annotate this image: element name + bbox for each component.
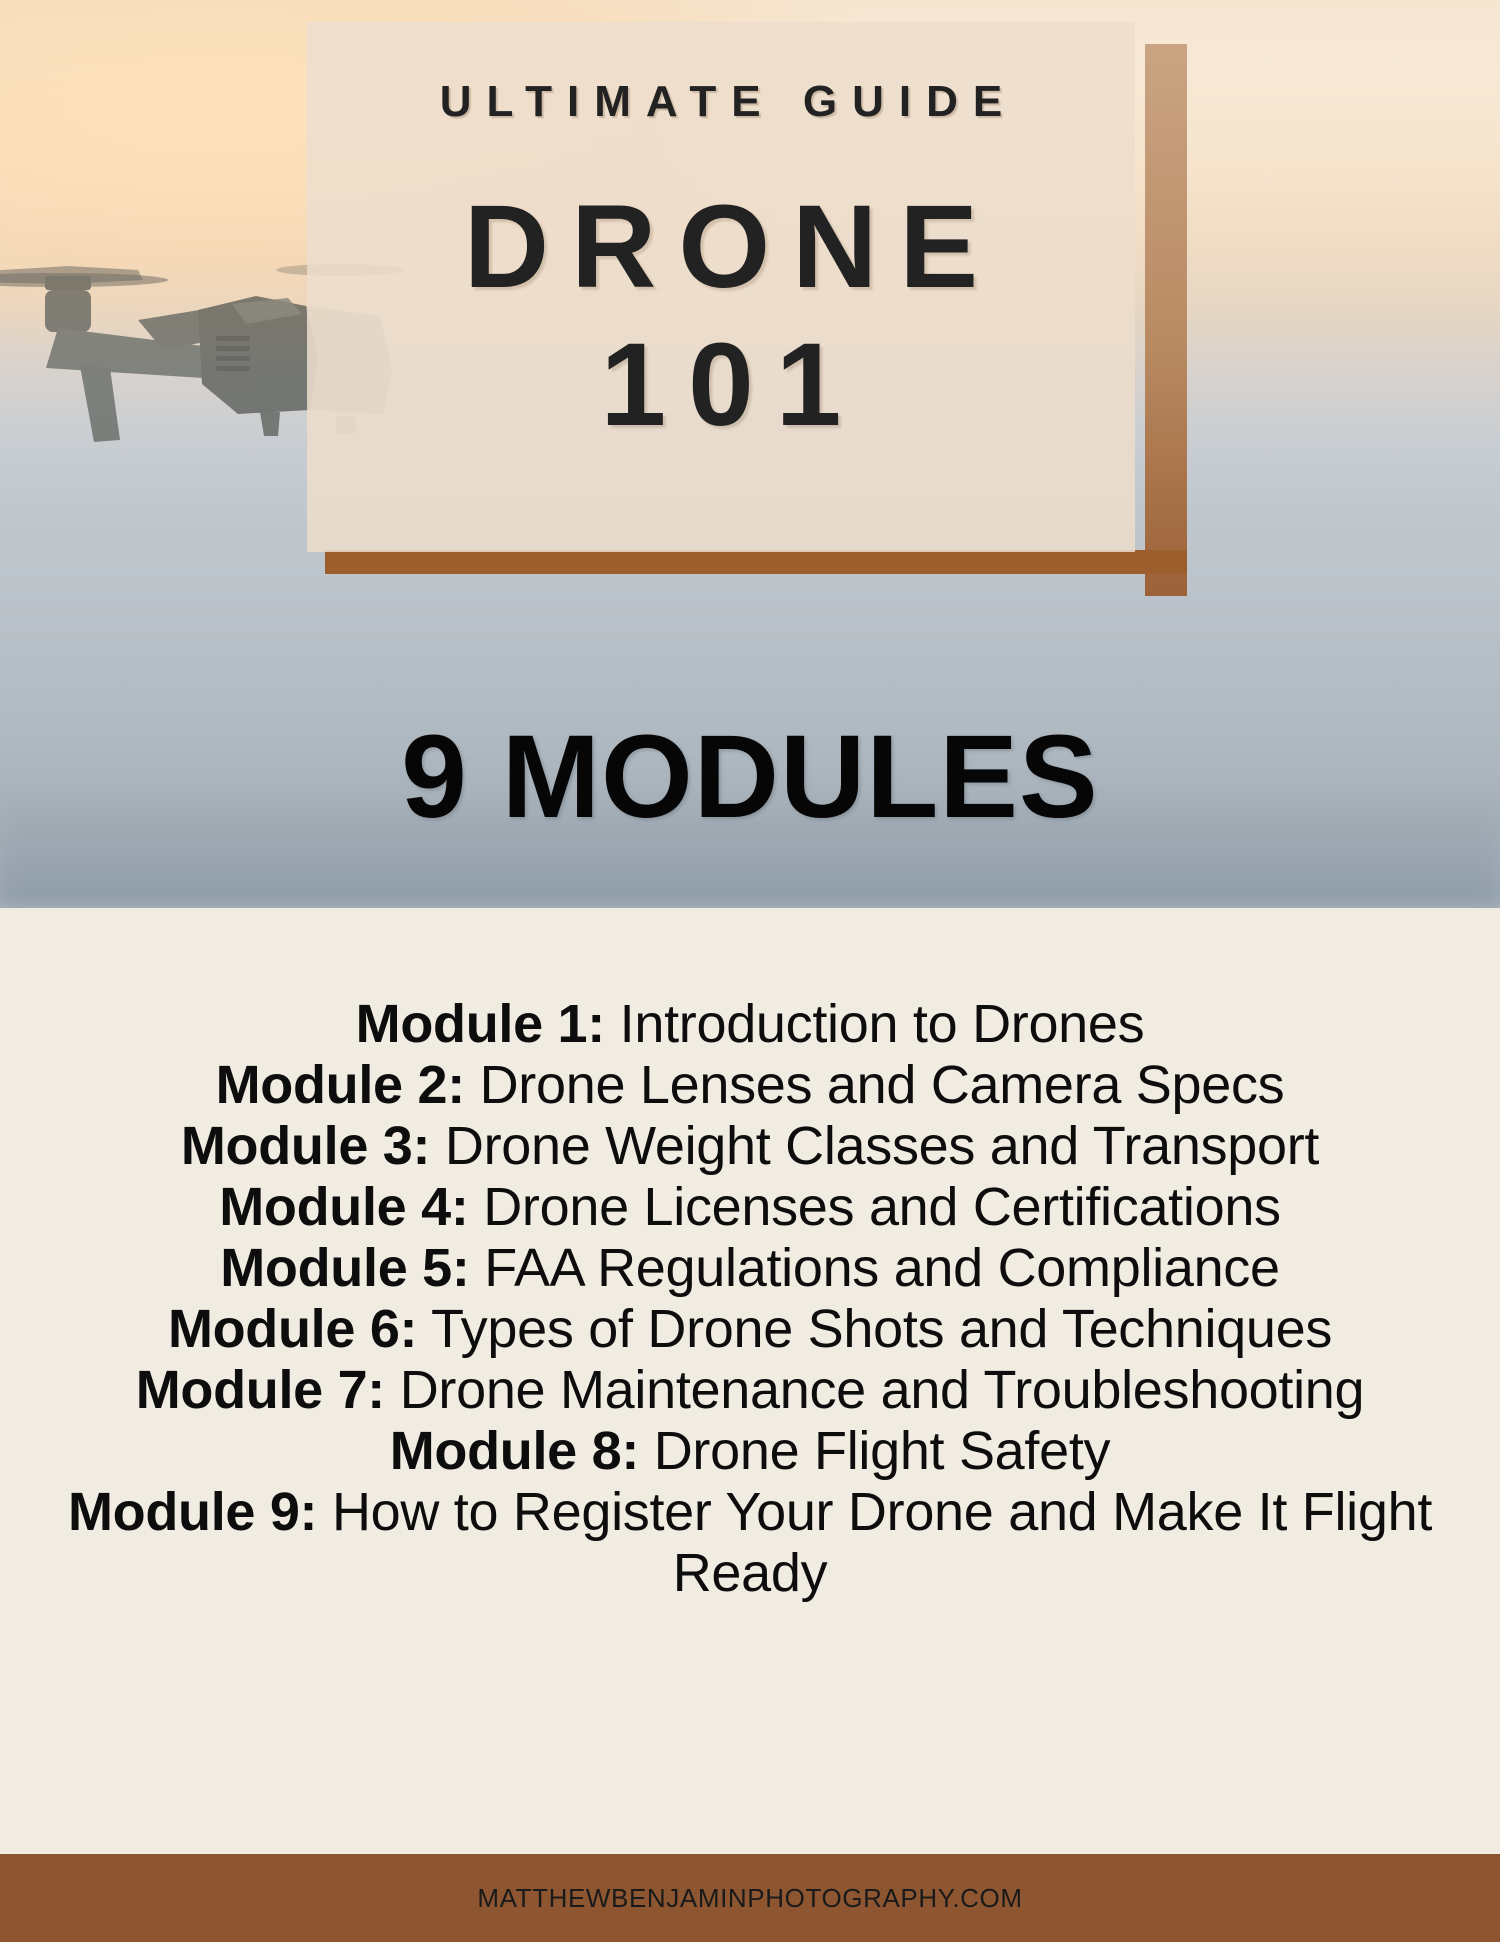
module-title: How to Register Your Drone and Make It F… [332, 1482, 1432, 1603]
module-number: Module 5: [220, 1238, 469, 1298]
hero-headline: 9 MODULES [0, 718, 1500, 836]
module-title: Drone Lenses and Camera Specs [480, 1055, 1285, 1115]
module-list-item: Module 8: Drone Flight Safety [0, 1421, 1500, 1482]
module-number: Module 1: [356, 994, 605, 1054]
title-line-1: DRONE [442, 186, 1000, 310]
module-number: Module 4: [219, 1177, 468, 1237]
module-list-item: Module 6: Types of Drone Shots and Techn… [0, 1299, 1500, 1360]
module-list: Module 1: Introduction to DronesModule 2… [0, 908, 1500, 1854]
module-title: Drone Licenses and Certifications [483, 1177, 1281, 1237]
module-title: Drone Weight Classes and Transport [445, 1116, 1319, 1176]
hero-photo: ULTIMATE GUIDE DRONE 101 9 MODULES [0, 0, 1500, 908]
module-number: Module 3: [181, 1116, 430, 1176]
module-title: Types of Drone Shots and Techniques [431, 1299, 1332, 1359]
module-number: Module 7: [136, 1360, 385, 1420]
module-title: Introduction to Drones [620, 994, 1145, 1054]
flyer-page: ULTIMATE GUIDE DRONE 101 9 MODULES Modul… [0, 0, 1500, 1942]
module-number: Module 9: [68, 1482, 317, 1542]
eyebrow-text: ULTIMATE GUIDE [425, 80, 1017, 124]
title-card-accent-bottom [325, 550, 1187, 574]
module-number: Module 8: [390, 1421, 639, 1481]
module-list-item: Module 9: How to Register Your Drone and… [0, 1482, 1500, 1604]
module-list-item: Module 4: Drone Licenses and Certificati… [0, 1177, 1500, 1238]
module-title: Drone Maintenance and Troubleshooting [400, 1360, 1365, 1420]
footer-bar: MATTHEWBENJAMINPHOTOGRAPHY.COM [0, 1854, 1500, 1942]
module-title: Drone Flight Safety [654, 1421, 1111, 1481]
title-card-accent-right [1145, 44, 1187, 596]
module-title: FAA Regulations and Compliance [484, 1238, 1280, 1298]
footer-website[interactable]: MATTHEWBENJAMINPHOTOGRAPHY.COM [477, 1883, 1022, 1914]
module-list-item: Module 5: FAA Regulations and Compliance [0, 1238, 1500, 1299]
module-number: Module 6: [168, 1299, 417, 1359]
title-card-panel: ULTIMATE GUIDE DRONE 101 [307, 22, 1135, 552]
title-line-2: 101 [579, 324, 864, 448]
module-list-item: Module 2: Drone Lenses and Camera Specs [0, 1055, 1500, 1116]
module-number: Module 2: [216, 1055, 465, 1115]
module-list-item: Module 7: Drone Maintenance and Troubles… [0, 1360, 1500, 1421]
module-list-item: Module 3: Drone Weight Classes and Trans… [0, 1116, 1500, 1177]
title-card: ULTIMATE GUIDE DRONE 101 [307, 22, 1187, 574]
module-list-item: Module 1: Introduction to Drones [0, 994, 1500, 1055]
